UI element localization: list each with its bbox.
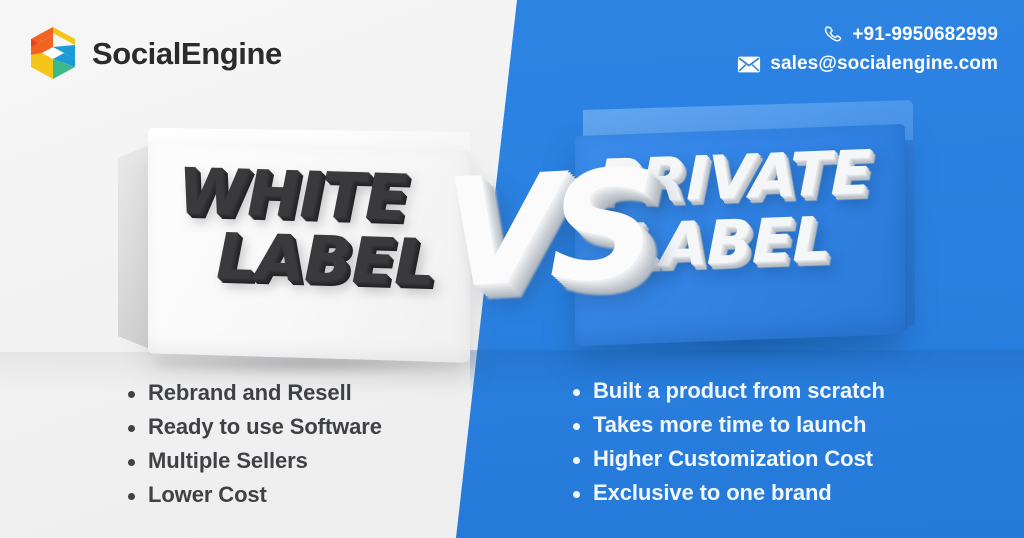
white-label-title-line2: LABEL	[178, 226, 478, 295]
phone-number: +91-9950682999	[852, 20, 998, 49]
bullet-dot-icon	[573, 389, 580, 396]
white-label-title: WHITE LABEL	[178, 162, 478, 296]
phone-icon	[823, 25, 843, 45]
list-item-label: Higher Customization Cost	[593, 448, 873, 470]
bullet-dot-icon	[128, 391, 135, 398]
email-address: sales@socialengine.com	[770, 49, 998, 78]
brand-logo[interactable]: SocialEngine	[28, 25, 282, 81]
white-label-feature-list: Rebrand and Resell Ready to use Software…	[128, 382, 382, 518]
list-item: Built a product from scratch	[573, 380, 885, 402]
envelope-icon	[737, 55, 761, 74]
list-item-label: Ready to use Software	[148, 416, 382, 438]
list-item: Higher Customization Cost	[573, 448, 885, 470]
contact-block: +91-9950682999 sales@socialengine.com	[737, 20, 998, 79]
bullet-dot-icon	[573, 423, 580, 430]
bullet-dot-icon	[128, 493, 135, 500]
list-item: Exclusive to one brand	[573, 482, 885, 504]
bullet-dot-icon	[128, 425, 135, 432]
bullet-dot-icon	[573, 457, 580, 464]
list-item: Ready to use Software	[128, 416, 382, 438]
phone-row[interactable]: +91-9950682999	[737, 20, 998, 49]
list-item-label: Multiple Sellers	[148, 450, 308, 472]
socialengine-hexagon-s-logo-icon	[28, 25, 78, 81]
list-item: Multiple Sellers	[128, 450, 382, 472]
infographic-canvas: SocialEngine +91-9950682999 sales@social…	[0, 0, 1024, 538]
list-item-label: Takes more time to launch	[593, 414, 866, 436]
email-row[interactable]: sales@socialengine.com	[737, 49, 998, 78]
white-label-3d-box: WHITE LABEL	[118, 128, 470, 366]
list-item: Lower Cost	[128, 484, 382, 506]
list-item: Rebrand and Resell	[128, 382, 382, 404]
white-box-left-face	[118, 144, 152, 350]
bullet-dot-icon	[128, 459, 135, 466]
list-item-label: Rebrand and Resell	[148, 382, 352, 404]
brand-name: SocialEngine	[92, 38, 282, 69]
versus-label: VS	[443, 150, 647, 311]
private-label-feature-list: Built a product from scratch Takes more …	[573, 380, 885, 516]
list-item-label: Lower Cost	[148, 484, 267, 506]
list-item-label: Exclusive to one brand	[593, 482, 832, 504]
list-item: Takes more time to launch	[573, 414, 885, 436]
bullet-dot-icon	[573, 491, 580, 498]
list-item-label: Built a product from scratch	[593, 380, 885, 402]
